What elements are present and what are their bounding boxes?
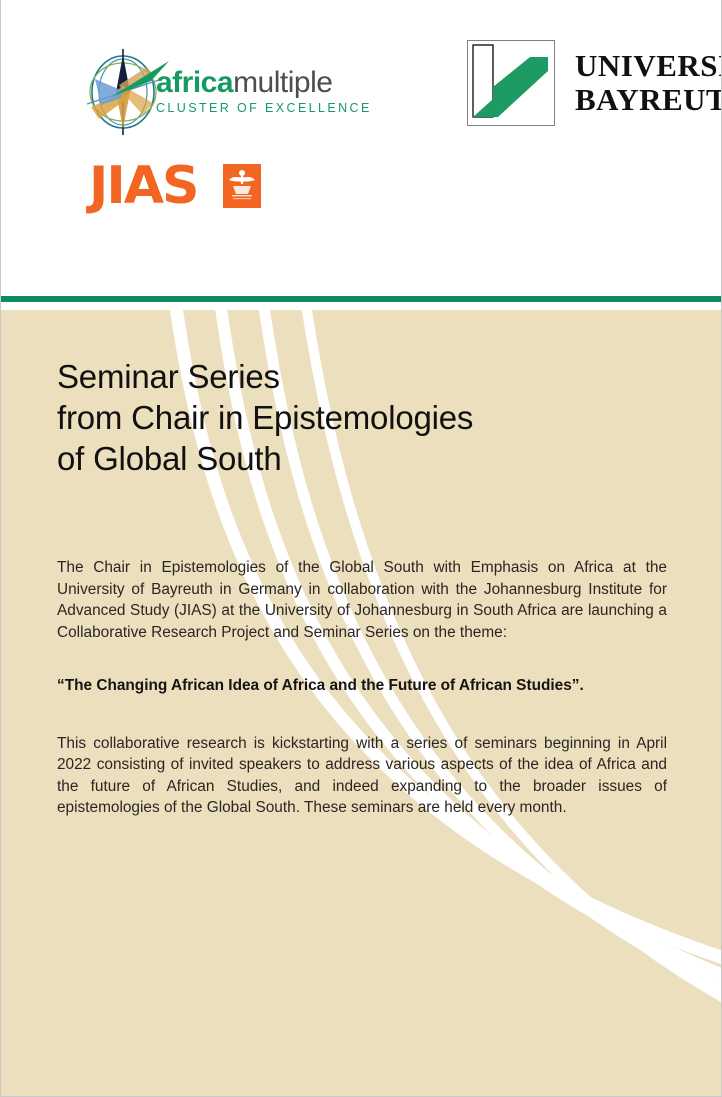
page-title-line-2: from Chair in Epistemologies <box>57 397 667 438</box>
poster-page: africamultiple CLUSTER OF EXCELLENCE UNI… <box>0 0 722 1097</box>
green-divider-rule <box>1 296 722 302</box>
bayreuth-line-2: BAYREUTH <box>575 83 722 117</box>
bayreuth-line-1: UNIVERSITÄT <box>575 49 722 83</box>
africa-multiple-wordmark: africamultiple CLUSTER OF EXCELLENCE <box>156 67 356 117</box>
page-title: Seminar Series from Chair in Epistemolog… <box>57 310 667 479</box>
jias-wordmark: JIAS <box>89 160 197 212</box>
panel-content: Seminar Series from Chair in Epistemolog… <box>1 310 722 819</box>
content-panel: Seminar Series from Chair in Epistemolog… <box>1 310 722 1096</box>
intro-paragraph: The Chair in Epistemologies of the Globa… <box>57 479 667 643</box>
page-title-line-3: of Global South <box>57 438 667 479</box>
logo-jias: JIAS <box>89 160 261 212</box>
logo-universitaet-bayreuth: UNIVERSITÄT BAYREUTH <box>467 40 722 126</box>
bayreuth-wordmark: UNIVERSITÄT BAYREUTH <box>575 49 722 117</box>
bayreuth-v-mark-icon <box>467 40 555 126</box>
uj-crest-icon <box>223 164 261 208</box>
schedule-paragraph: This collaborative research is kickstart… <box>57 697 667 819</box>
seminar-theme-title: “The Changing African Idea of Africa and… <box>57 643 667 697</box>
am-word-africa: africa <box>156 66 233 99</box>
logo-africa-multiple: africamultiple CLUSTER OF EXCELLENCE <box>81 47 356 137</box>
am-tagline: CLUSTER OF EXCELLENCE <box>156 101 372 115</box>
page-title-line-1: Seminar Series <box>57 356 667 397</box>
header-logo-band: africamultiple CLUSTER OF EXCELLENCE UNI… <box>1 0 722 296</box>
am-word-multiple: multiple <box>233 66 332 99</box>
